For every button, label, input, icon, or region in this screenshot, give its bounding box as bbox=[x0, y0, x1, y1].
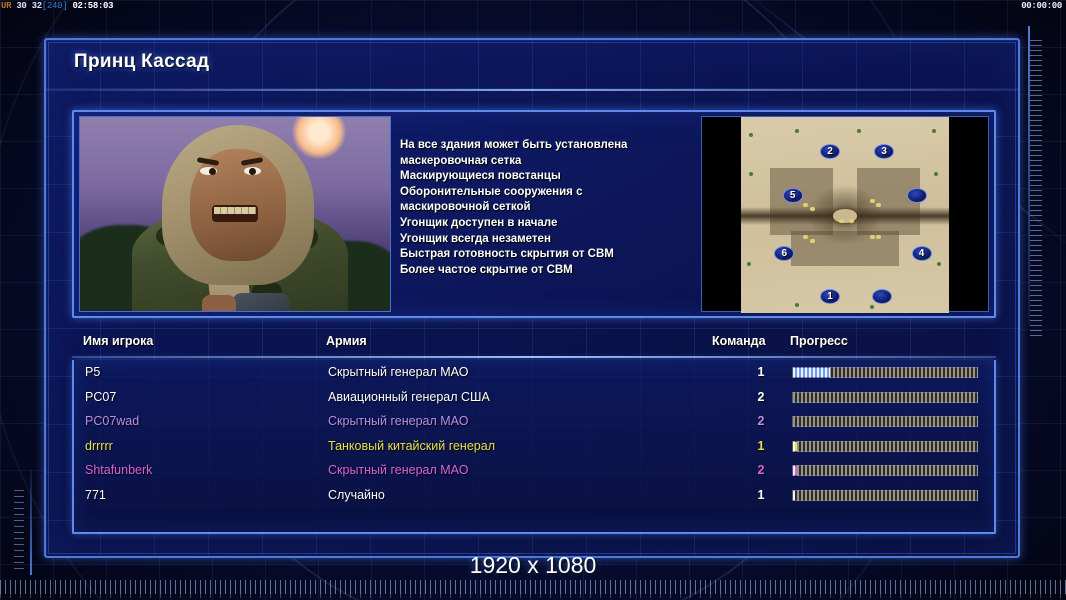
player-team: 1 bbox=[739, 483, 783, 508]
table-row[interactable]: 771Случайно1 bbox=[74, 483, 994, 508]
feature-line: Угонщик всегда незаметен bbox=[400, 232, 700, 248]
column-header-name: Имя игрока bbox=[83, 334, 153, 348]
hud-clock: 02:58:03 bbox=[72, 1, 113, 11]
map-spawn-marker[interactable]: 2 bbox=[820, 144, 840, 159]
player-team: 2 bbox=[739, 409, 783, 434]
frame-ruler-bottom-secondary bbox=[0, 593, 1066, 598]
feature-line: Оборонительные сооружения с bbox=[400, 185, 700, 201]
player-team: 1 bbox=[739, 434, 783, 459]
player-army: Скрытный генерал МАО bbox=[328, 458, 468, 483]
hud-tag: UR bbox=[1, 1, 11, 11]
player-progress-bar bbox=[792, 416, 978, 427]
window-titlebar: Принц Кассад bbox=[46, 40, 1018, 90]
feature-line: маскеровочная сетка bbox=[400, 154, 700, 170]
player-table-body: P5Скрытный генерал МАО1PC07Авиационный г… bbox=[72, 360, 996, 534]
player-army: Случайно bbox=[328, 483, 385, 508]
table-row[interactable]: PC07Авиационный генерал США2 bbox=[74, 385, 994, 410]
resolution-label: 1920 x 1080 bbox=[0, 552, 1066, 579]
general-info-window: Принц Кассад bbox=[44, 38, 1020, 558]
map-spawn-marker[interactable]: 4 bbox=[912, 246, 932, 261]
player-progress-bar bbox=[792, 367, 978, 378]
player-team: 1 bbox=[739, 360, 783, 385]
progress-fill bbox=[793, 442, 797, 451]
player-army: Скрытный генерал МАО bbox=[328, 360, 468, 385]
header-divider bbox=[72, 356, 996, 358]
portrait-pupil-right bbox=[249, 168, 256, 175]
progress-fill bbox=[793, 491, 795, 500]
feature-line: маскировочной сеткой bbox=[400, 200, 700, 216]
frame-ruler-bottom bbox=[0, 580, 1066, 594]
progress-fill bbox=[793, 368, 830, 377]
player-team: 2 bbox=[739, 385, 783, 410]
feature-line: На все здания может быть установлена bbox=[400, 138, 700, 154]
table-row[interactable]: P5Скрытный генерал МАО1 bbox=[74, 360, 994, 385]
map-preview: 2 3 5 6 4 1 bbox=[701, 116, 989, 312]
table-row[interactable]: drrrrrТанковый китайский генерал1 bbox=[74, 434, 994, 459]
general-info-panel: На все здания может быть установлена мас… bbox=[72, 110, 996, 318]
map-terrain: 2 3 5 6 4 1 bbox=[741, 117, 949, 313]
feature-line: Маскирующиеся повстанцы bbox=[400, 169, 700, 185]
feature-line: Быстрая готовность скрытия от СВМ bbox=[400, 247, 700, 263]
general-feature-list: На все здания может быть установлена мас… bbox=[400, 138, 700, 278]
player-army: Авиационный генерал США bbox=[328, 385, 490, 410]
player-name: 771 bbox=[85, 483, 106, 508]
player-table-header: Имя игрока Армия Команда Прогресс bbox=[72, 334, 996, 356]
hud-value-3: [240] bbox=[42, 1, 68, 11]
portrait-pupil-left bbox=[209, 168, 216, 175]
page-title: Принц Кассад bbox=[74, 51, 209, 73]
player-progress-bar bbox=[792, 490, 978, 501]
player-progress-bar bbox=[792, 465, 978, 476]
feature-line: Более частое скрытие от СВМ bbox=[400, 263, 700, 279]
hud-value-2: 32 bbox=[32, 1, 42, 11]
map-spawn-marker[interactable] bbox=[872, 289, 892, 304]
general-portrait bbox=[79, 116, 391, 312]
hud-right-clock: 00:00:00 bbox=[1021, 0, 1062, 13]
hud-performance-readout: UR 30 32[240] 02:58:03 bbox=[1, 0, 113, 13]
map-spawn-marker[interactable]: 1 bbox=[820, 289, 840, 304]
portrait-hand bbox=[202, 295, 236, 312]
title-divider bbox=[46, 89, 1018, 91]
player-name: drrrrr bbox=[85, 434, 113, 459]
column-header-army: Армия bbox=[326, 334, 367, 348]
player-progress-bar bbox=[792, 441, 978, 452]
map-spawn-marker[interactable]: 3 bbox=[874, 144, 894, 159]
player-army: Скрытный генерал МАО bbox=[328, 409, 468, 434]
portrait-teeth bbox=[214, 207, 256, 214]
frame-ruler-right bbox=[1030, 40, 1042, 340]
frame-line-right bbox=[1028, 26, 1030, 326]
player-name: PC07wad bbox=[85, 409, 139, 434]
portrait-weapon bbox=[232, 293, 290, 312]
player-team: 2 bbox=[739, 458, 783, 483]
table-row[interactable]: PC07wadСкрытный генерал МАО2 bbox=[74, 409, 994, 434]
column-header-team: Команда bbox=[712, 334, 766, 348]
player-progress-bar bbox=[792, 392, 978, 403]
table-row[interactable]: ShtafunberkСкрытный генерал МАО2 bbox=[74, 458, 994, 483]
player-name: PC07 bbox=[85, 385, 116, 410]
map-spawn-marker[interactable]: 5 bbox=[783, 188, 803, 203]
player-name: Shtafunberk bbox=[85, 458, 152, 483]
progress-fill bbox=[793, 466, 797, 475]
column-header-progress: Прогресс bbox=[790, 334, 848, 348]
map-spawn-marker[interactable] bbox=[907, 188, 927, 203]
hud-overlay: UR 30 32[240] 02:58:03 00:00:00 bbox=[0, 0, 1066, 13]
player-name: P5 bbox=[85, 360, 100, 385]
feature-line: Угонщик доступен в начале bbox=[400, 216, 700, 232]
hud-value-1: 30 bbox=[16, 1, 26, 11]
player-army: Танковый китайский генерал bbox=[328, 434, 495, 459]
player-table: Имя игрока Армия Команда Прогресс P5Скры… bbox=[72, 334, 996, 534]
